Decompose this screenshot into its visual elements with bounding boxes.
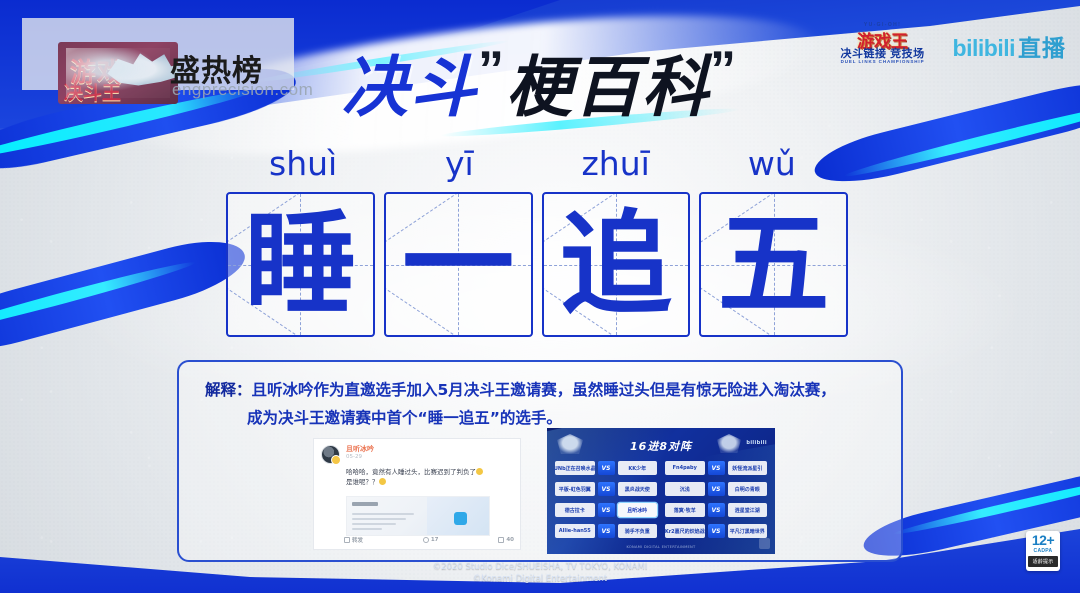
title-part-1: 决斗 bbox=[342, 50, 478, 124]
weibo-body: 哈哈哈，竟然有人睡过头，比赛迟到了判负了 是谁呢？？ bbox=[346, 467, 512, 487]
play-button-icon bbox=[454, 512, 467, 525]
quote-line bbox=[352, 513, 414, 515]
copyright-footer: ©2020 Studio Dice/SHUEISHA, TV TOKYO, KO… bbox=[0, 561, 1080, 585]
bracket-match: UNb正在召唤水晶 VS KK少年 bbox=[555, 460, 657, 476]
bracket-team: Fn4paby bbox=[665, 461, 705, 475]
bracket-team: UNb正在召唤水晶 bbox=[555, 461, 595, 475]
bracket-columns: UNb正在召唤水晶 VS KK少年 平版-虹色羽翼 VS 黑炎战天使 德古拉卡 … bbox=[555, 460, 767, 542]
explanation-text: 解释：且听冰吟作为直邀选手加入5月决斗王邀请赛，虽然睡过头但是有惊无险进入淘汰赛… bbox=[205, 376, 883, 432]
weibo-like-action[interactable]: 40 bbox=[498, 536, 514, 544]
bracket-team: 白明の青眼 bbox=[728, 482, 768, 496]
vs-label: VS bbox=[598, 503, 615, 517]
bracket-team: 妖怪流派星引 bbox=[728, 461, 768, 475]
bracket-team: KK少年 bbox=[618, 461, 658, 475]
comment-icon bbox=[423, 537, 429, 543]
character-4: 五 bbox=[701, 194, 846, 335]
bracket-team: 黑炎战天使 bbox=[618, 482, 658, 496]
character-grid-row: 睡 一 追 五 bbox=[226, 192, 848, 337]
weibo-repost-action[interactable]: 转发 bbox=[344, 536, 363, 544]
character-box-2: 一 bbox=[384, 192, 533, 337]
copyright-line-1: ©2020 Studio Dice/SHUEISHA, TV TOKYO, KO… bbox=[0, 561, 1080, 573]
explanation-line-1: 且听冰吟作为直邀选手加入5月决斗王邀请赛，虽然睡过头但是有惊无险进入淘汰赛， bbox=[252, 381, 836, 399]
weibo-date: 05-29 bbox=[346, 454, 362, 460]
weibo-quoted-card bbox=[346, 496, 490, 536]
pinyin-1: shuì bbox=[225, 143, 381, 185]
weibo-body-line2: 是谁呢？？ bbox=[346, 478, 379, 486]
emoji-icon bbox=[476, 468, 483, 475]
page-title: 决斗”梗百科” bbox=[0, 44, 1080, 120]
bracket-match: 平版-虹色羽翼 VS 黑炎战天使 bbox=[555, 481, 657, 497]
age-rating-number: 12+ bbox=[1032, 533, 1054, 547]
bracket-team: 平凡汀黑暗世界 bbox=[728, 524, 768, 538]
bracket-team: 骑手不负重 bbox=[618, 524, 658, 538]
bracket-column-right: Fn4paby VS 妖怪流派星引 沉浅 VS 白明の青眼 落寞·牧羊 VS 涟… bbox=[665, 460, 767, 542]
weibo-post-screenshot: 且听冰吟 05-29 哈哈哈，竟然有人睡过头，比赛迟到了判负了 是谁呢？？ 转发… bbox=[313, 438, 521, 550]
tournament-bracket-screenshot: bilibili 16进8对阵 UNb正在召唤水晶 VS KK少年 平版-虹色羽… bbox=[547, 428, 775, 554]
explanation-panel: 解释：且听冰吟作为直邀选手加入5月决斗王邀请赛，虽然睡过头但是有惊无险进入淘汰赛… bbox=[177, 360, 903, 562]
character-box-3: 追 bbox=[542, 192, 691, 337]
bracket-match: Fn4paby VS 妖怪流派星引 bbox=[665, 460, 767, 476]
bracket-corner-badge bbox=[759, 538, 770, 549]
quote-line bbox=[352, 523, 396, 525]
age-rating-badge: 12+ CADPA 适龄提示 bbox=[1026, 531, 1060, 571]
bracket-title: 16进8对阵 bbox=[547, 438, 775, 454]
like-icon bbox=[498, 537, 504, 543]
character-box-4: 五 bbox=[699, 192, 848, 337]
vs-label: VS bbox=[598, 461, 615, 475]
quote-title-bar bbox=[352, 502, 378, 506]
weibo-comment-action[interactable]: 17 bbox=[423, 536, 439, 544]
character-box-1: 睡 bbox=[226, 192, 375, 337]
bracket-match: 落寞·牧羊 VS 涟星堂江湖 bbox=[665, 502, 767, 518]
bracket-column-left: UNb正在召唤水晶 VS KK少年 平版-虹色羽翼 VS 黑炎战天使 德古拉卡 … bbox=[555, 460, 657, 542]
age-rating-org: CADPA bbox=[1034, 548, 1053, 554]
slide-canvas: 游戏 决斗王 盛热榜 engprecision.com YU-GI-OH! 游戏… bbox=[0, 0, 1080, 593]
vs-label: VS bbox=[598, 482, 615, 496]
character-3: 追 bbox=[544, 194, 689, 335]
weibo-body-line1: 哈哈哈，竟然有人睡过头，比赛迟到了判负了 bbox=[346, 468, 476, 476]
bracket-team: 涟星堂江湖 bbox=[728, 503, 768, 517]
character-1: 睡 bbox=[228, 194, 373, 335]
vs-label: VS bbox=[708, 482, 725, 496]
bracket-team: Kr2嘉尺的炽焰战 bbox=[665, 524, 705, 538]
quote-line bbox=[352, 518, 406, 520]
bracket-match: Kr2嘉尺的炽焰战 VS 平凡汀黑暗世界 bbox=[665, 523, 767, 539]
pinyin-2: yī bbox=[381, 143, 537, 185]
bracket-team: 落寞·牧羊 bbox=[665, 503, 705, 517]
bracket-footer-note: KONAMI DIGITAL ENTERTAINMENT bbox=[547, 545, 775, 549]
bracket-match: 沉浅 VS 白明の青眼 bbox=[665, 481, 767, 497]
vs-label: VS bbox=[708, 503, 725, 517]
bracket-match: 德古拉卡 VS 且听冰吟 bbox=[555, 502, 657, 518]
bracket-match: Allie-han55 VS 骑手不负重 bbox=[555, 523, 657, 539]
bracket-team: 平版-虹色羽翼 bbox=[555, 482, 595, 496]
bracket-team: 沉浅 bbox=[665, 482, 705, 496]
bracket-team: 德古拉卡 bbox=[555, 503, 595, 517]
pinyin-4: wǔ bbox=[694, 143, 850, 185]
repost-icon bbox=[344, 537, 350, 543]
explanation-line-2: 成为决斗王邀请赛中首个“睡一追五”的选手。 bbox=[247, 409, 562, 427]
title-quote-close: ” bbox=[710, 41, 738, 99]
emoji-icon bbox=[379, 478, 386, 485]
pinyin-row: shuì yī zhuī wǔ bbox=[225, 143, 850, 185]
character-2: 一 bbox=[386, 194, 531, 335]
vs-label: VS bbox=[598, 524, 615, 538]
vs-label: VS bbox=[708, 524, 725, 538]
bracket-team: Allie-han55 bbox=[555, 524, 595, 538]
title-quote-open: ” bbox=[478, 41, 506, 99]
weibo-username: 且听冰吟 bbox=[346, 444, 374, 454]
pinyin-3: zhuī bbox=[538, 143, 694, 185]
bracket-team-highlighted: 且听冰吟 bbox=[618, 503, 658, 517]
weibo-action-bar: 转发 17 40 bbox=[344, 536, 514, 544]
avatar bbox=[321, 445, 340, 464]
age-rating-cn-label: 适龄提示 bbox=[1028, 556, 1058, 567]
quote-image-pane bbox=[427, 497, 489, 535]
copyright-line-2: ©Konami Digital Entertainment bbox=[0, 573, 1080, 585]
vs-label: VS bbox=[708, 461, 725, 475]
explanation-label: 解释： bbox=[205, 381, 252, 399]
quote-line bbox=[352, 528, 382, 530]
title-part-2: 梗百科 bbox=[506, 50, 710, 124]
